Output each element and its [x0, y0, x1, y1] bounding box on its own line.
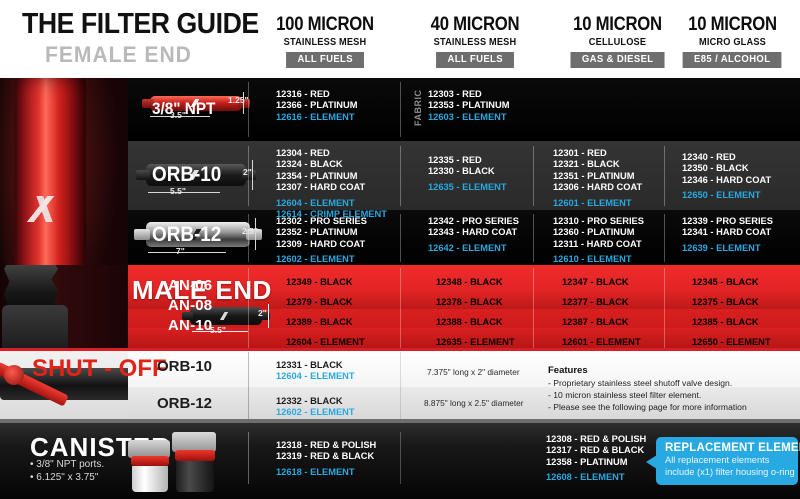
male-cell-r2c1: 12379 - BLACK — [286, 297, 353, 308]
male-dia-dim-label: 2" — [258, 308, 267, 318]
callout-title: REPLACEMENT ELEMENTS — [665, 442, 789, 454]
page-header: THE FILTER GUIDE FEMALE END 100 MICRON S… — [0, 0, 800, 78]
male-cell-r2c4: 12375 - BLACK — [692, 297, 759, 308]
shut-spec-orb12: 8.875" long x 2.5" diameter — [424, 398, 524, 408]
canister-cap-art-2 — [175, 450, 215, 461]
column-1-fuel-badge: ALL FUELS — [286, 52, 364, 68]
size-label-an08: AN-08 — [168, 297, 212, 314]
canister-divider-1 — [248, 432, 249, 484]
male-divider-2 — [400, 268, 401, 348]
page-title: THE FILTER GUIDE — [22, 8, 259, 41]
cell-npt-c2: 12303 - RED 12353 - PLATINUM 12603 - ELE… — [428, 89, 509, 123]
section-label-shut-off: SHUT - OFF — [32, 355, 167, 383]
column-1-micron: 100 MICRON — [259, 14, 391, 36]
male-cell-r3c3: 12387 - BLACK — [562, 317, 629, 328]
canister-bullet-1: • 3/8" NPT ports. — [30, 458, 104, 471]
shut-spec-orb10: 7.375" long x 2" diameter — [427, 367, 520, 377]
male-cell-r2c3: 12377 - BLACK — [562, 297, 629, 308]
features-line-3: - Please see the following page for more… — [548, 402, 747, 412]
row-label-npt: 3/8" NPT — [152, 99, 215, 119]
male-cell-r1c3: 12347 - BLACK — [562, 277, 629, 288]
male-length-dim-label: 5.5" — [210, 325, 226, 335]
column-1-media: STAINLESS MESH — [256, 37, 394, 48]
page-subtitle: FEMALE END — [45, 42, 192, 68]
an-body-art — [2, 305, 68, 351]
features-line-1: - Proprietary stainless steel shutoff va… — [548, 378, 732, 388]
column-4-micron: 10 MICRON — [673, 14, 792, 36]
row-label-orb12: ORB-12 — [152, 223, 221, 247]
shut-cell-orb10: 12331 - BLACK 12604 - ELEMENT — [276, 360, 355, 383]
canister-bracket-art-2 — [172, 432, 216, 452]
male-divider-3 — [533, 268, 534, 348]
canister-bullet-2: • 6.125" x 3.75" — [30, 471, 104, 484]
male-element-c4: 12650 - ELEMENT — [692, 337, 771, 348]
column-2-media: STAINLESS MESH — [406, 37, 544, 48]
column-divider-2c — [400, 214, 401, 262]
orb12-dia-dim-label: 2.5" — [242, 226, 258, 236]
column-3-fuel-badge: GAS & DIESEL — [570, 52, 664, 68]
shutoff-hub-art — [4, 365, 24, 385]
male-divider-1 — [248, 268, 249, 348]
cell-npt-c1: 12316 - RED 12366 - PLATINUM 12616 - ELE… — [276, 89, 357, 123]
canister-cell-c3: 12308 - RED & POLISH 12317 - RED & BLACK… — [546, 434, 646, 484]
shut-divider-2 — [400, 352, 401, 422]
male-dia-dim-line — [268, 304, 269, 328]
cell-orb10-c3: 12301 - RED 12321 - BLACK 12351 - PLATIN… — [553, 148, 642, 209]
male-element-c3: 12601 - ELEMENT — [562, 337, 641, 348]
shut-divider-1 — [248, 352, 249, 422]
male-cell-r1c1: 12349 - BLACK — [286, 277, 353, 288]
male-cell-r1c4: 12345 - BLACK — [692, 277, 759, 288]
canister-body-art-1 — [132, 466, 168, 492]
column-divider-1a — [248, 82, 249, 137]
row-label-orb10: ORB-10 — [152, 163, 221, 187]
column-header-1: 100 MICRON STAINLESS MESH ALL FUELS — [250, 14, 400, 68]
replacement-elements-callout: REPLACEMENT ELEMENTS All replacement ele… — [656, 437, 798, 485]
cell-orb12-c3: 12310 - PRO SERIES 12360 - PLATINUM 1231… — [553, 216, 644, 266]
orb10-dia-dim-line — [252, 160, 253, 190]
cell-orb10-c2: 12335 - RED 12330 - BLACK 12635 - ELEMEN… — [428, 155, 507, 193]
cell-orb10-c1: 12304 - RED 12324 - BLACK 12354 - PLATIN… — [276, 148, 387, 220]
shut-cell-orb12: 12332 - BLACK 12602 - ELEMENT — [276, 396, 355, 419]
fabric-label: FABRIC — [413, 90, 423, 127]
column-divider-4b — [664, 146, 665, 206]
orb10-length-dim-label: 5.5" — [170, 186, 186, 196]
column-2-micron: 40 MICRON — [409, 14, 541, 36]
orb12-length-dim-label: 7" — [176, 246, 185, 256]
column-2-fuel-badge: ALL FUELS — [436, 52, 514, 68]
features-title: Features — [548, 365, 588, 376]
column-divider-2a — [400, 82, 401, 137]
column-divider-1b — [248, 146, 249, 206]
canister-divider-2 — [400, 432, 401, 484]
column-header-4: 10 MICRON MICRO GLASS E85 / ALCOHOL — [665, 14, 800, 68]
canister-cap-art-1 — [131, 456, 169, 466]
filter-guide-page: THE FILTER GUIDE FEMALE END 100 MICRON S… — [0, 0, 800, 499]
aeromotive-logo-icon — [23, 196, 63, 222]
column-divider-1c — [248, 214, 249, 262]
male-end-artwork-left — [0, 265, 128, 351]
column-divider-3b — [533, 146, 534, 206]
male-divider-4 — [664, 268, 665, 348]
male-cell-r1c2: 12348 - BLACK — [436, 277, 503, 288]
column-divider-4c — [664, 214, 665, 262]
size-label-an06: AN-06 — [168, 277, 212, 294]
orb12-length-dim-line — [148, 252, 226, 253]
column-divider-3c — [533, 214, 534, 262]
callout-line-1: All replacement elements — [665, 455, 789, 467]
male-element-c2: 12635 - ELEMENT — [436, 337, 515, 348]
male-cell-r3c2: 12388 - BLACK — [436, 317, 503, 328]
column-4-fuel-badge: E85 / ALCOHOL — [683, 52, 782, 68]
cell-orb12-c2: 12342 - PRO SERIES 12343 - HARD COAT 126… — [428, 216, 519, 254]
shut-label-orb12: ORB-12 — [157, 395, 212, 412]
column-header-2: 40 MICRON STAINLESS MESH ALL FUELS — [400, 14, 550, 68]
male-cell-r2c2: 12378 - BLACK — [436, 297, 503, 308]
npt-dia-dim-label: 1.25" — [228, 95, 249, 105]
canister-bullets: • 3/8" NPT ports. • 6.125" x 3.75" — [30, 458, 104, 484]
cell-orb10-c4: 12340 - RED 12350 - BLACK 12346 - HARD C… — [682, 152, 771, 202]
callout-line-2: include (x1) filter housing o-ring — [665, 467, 789, 479]
shut-label-orb10: ORB-10 — [157, 358, 212, 375]
column-4-media: MICRO GLASS — [670, 37, 794, 48]
male-cell-r3c1: 12389 - BLACK — [286, 317, 353, 328]
cell-orb12-c4: 12339 - PRO SERIES 12341 - HARD COAT 126… — [682, 216, 773, 254]
male-cell-r3c4: 12385 - BLACK — [692, 317, 759, 328]
size-label-an10: AN-10 — [168, 317, 212, 334]
cell-orb12-c1: 12302 - PRO SERIES 12352 - PLATINUM 1230… — [276, 216, 367, 266]
features-line-2: - 10 micron stainless steel filter eleme… — [548, 390, 701, 400]
canister-cell-c1: 12318 - RED & POLISH 12319 - RED & BLACK… — [276, 440, 376, 478]
male-element-c1: 12604 - ELEMENT — [286, 337, 365, 348]
canister-body-art-2 — [176, 461, 214, 492]
column-divider-2b — [400, 146, 401, 206]
